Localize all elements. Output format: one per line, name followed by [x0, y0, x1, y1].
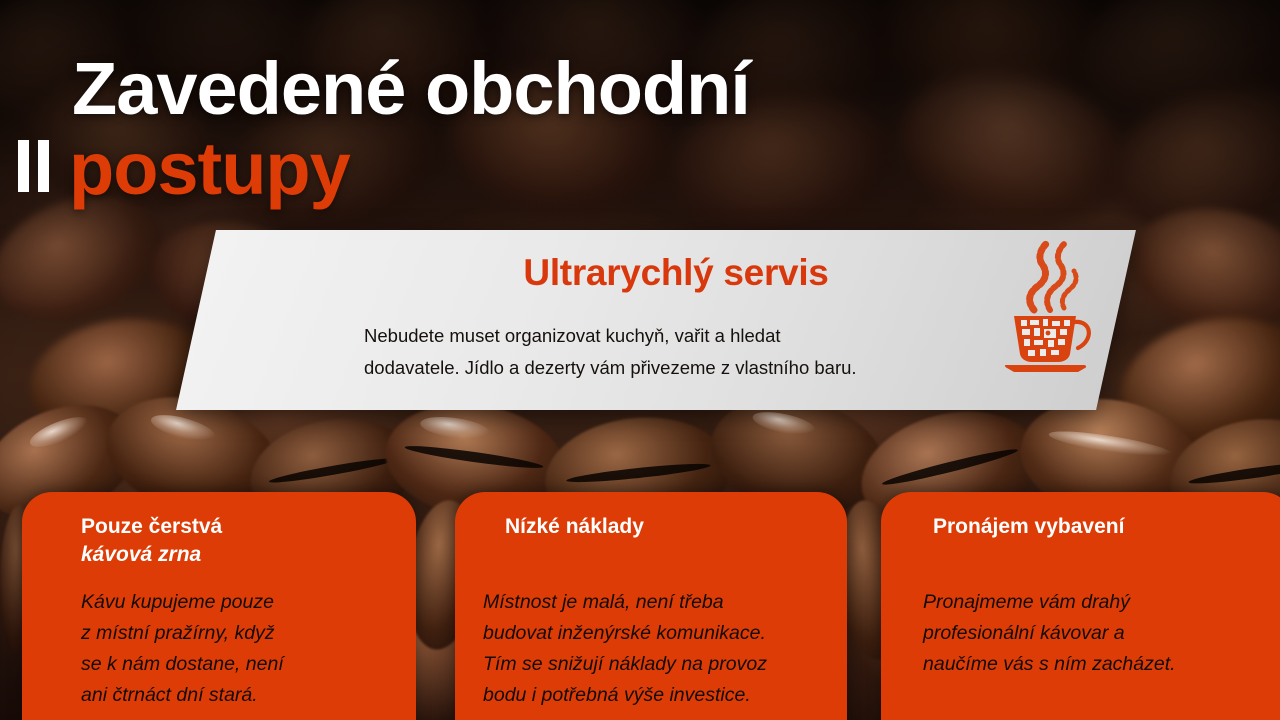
feature-card-low-cost[interactable]: Nízké náklady Místnost je malá, není tře…: [455, 492, 847, 720]
card-heading-line-2: kávová zrna: [81, 541, 222, 569]
card-body-line-3: Tím se snižují náklady na provoz: [483, 649, 767, 680]
card-body-line-1: Pronajmeme vám drahý: [923, 587, 1176, 618]
panel-body-line-2: dodavatele. Jídlo a dezerty vám přivezem…: [364, 352, 984, 384]
card-heading-line-1: Pronájem vybavení: [933, 515, 1124, 538]
card-heading-line-1: Pouze čerstvá: [81, 515, 222, 538]
feature-card-equipment-rental[interactable]: Pronájem vybavení Pronajmeme vám drahý p…: [881, 492, 1280, 720]
title-accent-bars-icon: [18, 140, 49, 192]
card-body-line-1: Místnost je malá, není třeba: [483, 587, 767, 618]
card-body-line-2: z místní pražírny, když: [81, 618, 284, 649]
card-body-line-2: profesionální kávovar a: [923, 618, 1176, 649]
coffee-cup-icon: [988, 236, 1100, 376]
card-heading: Pouze čerstvá kávová zrna: [81, 513, 222, 569]
card-body: Místnost je malá, není třeba budovat inž…: [483, 587, 767, 711]
card-body-line-1: Kávu kupujeme pouze: [81, 587, 284, 618]
title-line-1: Zavedené obchodní: [0, 52, 1000, 126]
panel-heading: Ultrarychlý servis: [396, 252, 956, 294]
panel-body-line-1: Nebudete muset organizovat kuchyň, vařit…: [364, 320, 984, 352]
card-body-line-3: se k nám dostane, není: [81, 649, 284, 680]
card-heading-line-1: Nízké náklady: [505, 515, 644, 538]
feature-card-fresh-beans[interactable]: Pouze čerstvá kávová zrna Kávu kupujeme …: [22, 492, 416, 720]
page-title: Zavedené obchodní postupy: [0, 52, 1000, 206]
card-body: Kávu kupujeme pouze z místní pražírny, k…: [81, 587, 284, 711]
card-body-line-3: naučíme vás s ním zacházet.: [923, 649, 1176, 680]
panel-body: Nebudete muset organizovat kuchyň, vařit…: [364, 320, 984, 384]
title-line-2: postupy: [69, 132, 350, 206]
card-body-line-4: bodu i potřebná výše investice.: [483, 680, 767, 711]
card-body: Pronajmeme vám drahý profesionální kávov…: [923, 587, 1176, 680]
card-heading: Pronájem vybavení: [933, 513, 1124, 541]
card-heading: Nízké náklady: [505, 513, 644, 541]
highlight-panel: Ultrarychlý servis Nebudete muset organi…: [176, 230, 1136, 410]
card-body-line-2: budovat inženýrské komunikace.: [483, 618, 767, 649]
card-body-line-4: ani čtrnáct dní stará.: [81, 680, 284, 711]
